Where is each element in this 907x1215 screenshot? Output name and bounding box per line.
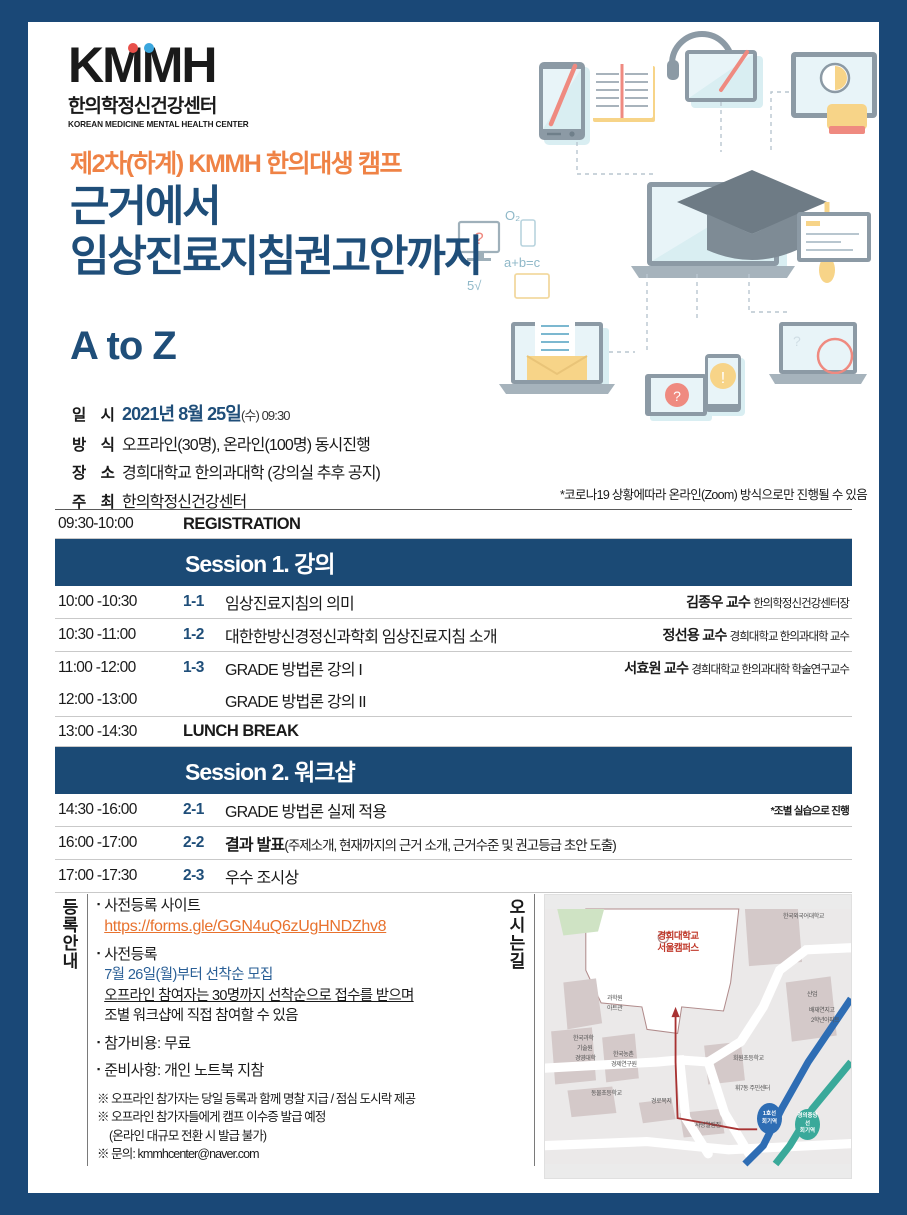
map-landmark: 과학원	[607, 993, 622, 1002]
poster-frame: .lt { fill:#d9eef2; } .gy { fill:#8c9aa5…	[28, 22, 879, 1193]
map-landmark: 아트관	[607, 1003, 622, 1012]
speaker-name: 김종우 교수	[686, 594, 750, 610]
info-value-venue: 경희대학교 한의과대학 (강의실 추후 공지)	[122, 459, 380, 483]
registration-time: 09:30-10:00	[55, 515, 183, 533]
svg-text:!: !	[721, 370, 725, 387]
kmmh-logo: KMMH 한의학정신건강센터 KOREAN MEDICINE MENTAL HE…	[68, 40, 249, 129]
row-speaker: 정선용 교수경희대학교 한의과대학 교수	[663, 625, 852, 645]
pre-registration-offline: 오프라인 참여자는 30명까지 선착순으로 접수를 받으며	[104, 988, 413, 1004]
map-landmark: 기술원	[577, 1043, 592, 1052]
subway-station-line1: 1호선 회기역	[757, 1103, 782, 1134]
table-row: 10:30 -11:00 1-2 대한한방신경정신과학회 임상진료지침 소개 정…	[55, 619, 852, 652]
logo-dots	[128, 40, 160, 58]
row-code: 2-2	[183, 834, 225, 852]
row-time: 12:00 -13:00	[55, 691, 183, 709]
map-landmark: 사랑열림집	[695, 1120, 721, 1129]
location-map[interactable]: 경희대학교 서울캠퍼스 한국외국어대학교 산업 배재연지고 2학년아파트 과학원…	[544, 894, 852, 1179]
note-item: ※ 오프라인 참가자는 당일 등록과 함께 명찰 지급 / 점심 도시락 제공	[97, 1090, 502, 1108]
note-item: ※ 문의: kmmhcenter@naver.com	[97, 1145, 502, 1163]
speaker-affiliation: 경희대학교 한의과대학 교수	[730, 631, 849, 643]
map-landmark: 경영대학	[575, 1053, 595, 1062]
map-landmark: 휘7동 주민센터	[735, 1083, 770, 1092]
session-2-header: Session 2. 워크샵	[55, 747, 852, 794]
info-value-datetime: 2021년 8월 25일	[122, 400, 241, 426]
session-1-header: Session 1. 강의	[55, 539, 852, 586]
title-line-3: A to Z	[70, 324, 176, 369]
bullet-icon: ▪	[97, 896, 100, 938]
event-subtitle: 제2차(하계) KMMH 한의대생 캠프	[70, 144, 401, 180]
pre-registration-workshop: 조별 워크샵에 직접 참여할 수 있음	[104, 1008, 298, 1024]
row-title: GRADE 방법론 실제 적용	[225, 798, 771, 822]
row-title-detail: (주제소개, 현재까지의 근거 소개, 근거수준 및 권고등급 초안 도출)	[284, 838, 615, 853]
note-item: (온라인 대규모 전환 시 발급 불가)	[97, 1127, 502, 1145]
row-time: 17:00 -17:30	[55, 867, 183, 885]
map-landmark: 경제연구원	[611, 1059, 637, 1068]
registration-site-label: 사전등록 사이트	[104, 897, 200, 914]
speaker-affiliation: 경희대학교 한의과대학 학술연구교수	[691, 664, 849, 676]
table-row: 12:00 -13:00 GRADE 방법론 강의 II	[55, 684, 852, 717]
bullet-icon: ▪	[97, 945, 100, 1027]
event-info: 일 시 2021년 8월 25일 (수) 09:30 방 식 오프라인(30명)…	[72, 400, 380, 516]
bullet-icon: ▪	[97, 1061, 100, 1081]
row-code: 1-1	[183, 593, 225, 611]
page-title: 근거에서 임상진료지침권고안까지	[70, 182, 481, 283]
note-item: ※ 오프라인 참가자들에게 캠프 이수증 발급 예정	[97, 1108, 502, 1126]
row-time: 10:30 -11:00	[55, 626, 183, 644]
station-name: 회기역	[757, 1119, 782, 1126]
map-landmark: 회원초등학교	[733, 1053, 764, 1062]
map-landmark: 한국과학	[573, 1033, 593, 1042]
row-code: 1-3	[183, 659, 225, 677]
row-time: 10:00 -10:30	[55, 593, 183, 611]
map-landmark: 산업	[807, 989, 817, 998]
station-name: 회기역	[795, 1128, 820, 1135]
row-title: GRADE 방법론 강의 I	[225, 656, 624, 680]
svg-text:a+b=c: a+b=c	[504, 255, 541, 270]
pre-registration-label: 사전등록	[104, 946, 157, 963]
row-title: 대한한방신경정신과학회 임상진료지침 소개	[225, 623, 663, 647]
campus-line-1: 경희대학교	[633, 931, 723, 943]
info-row-host: 주 최 한의학정신건강센터	[72, 488, 380, 512]
info-row-datetime: 일 시 2021년 8월 25일 (수) 09:30	[72, 400, 380, 426]
row-speaker: 김종우 교수한의학정신건강센터장	[686, 592, 852, 612]
divider	[87, 894, 88, 1166]
row-time: 14:30 -16:00	[55, 801, 183, 819]
list-item: ▪ 참가비용: 무료	[97, 1034, 502, 1054]
svg-text:?: ?	[793, 333, 801, 349]
table-row: 14:30 -16:00 2-1 GRADE 방법론 실제 적용 *조별 실습으…	[55, 794, 852, 827]
registration-site-block: 사전등록 사이트 https://forms.gle/GGN4uQ6zUgHND…	[104, 896, 386, 938]
fee-info: 참가비용: 무료	[104, 1034, 190, 1054]
table-row-registration: 09:30-10:00 REGISTRATION	[55, 509, 852, 539]
schedule-table: 09:30-10:00 REGISTRATION Session 1. 강의 1…	[55, 509, 852, 893]
station-line: 1호선	[757, 1111, 782, 1118]
list-item: ▪ 사전등록 사이트 https://forms.gle/GGN4uQ6zUgH…	[97, 896, 502, 938]
logo-dot-blue	[144, 43, 154, 53]
subway-station-gyeongui: 경의중앙선 회기역	[795, 1109, 820, 1140]
registration-title: REGISTRATION	[183, 515, 852, 534]
row-title: 임상진료지침의 의미	[225, 590, 686, 614]
table-row: 11:00 -12:00 1-3 GRADE 방법론 강의 I 서효원 교수경희…	[55, 652, 852, 684]
map-landmark: 한국외국어대학교	[783, 911, 824, 920]
info-value-host: 한의학정신건강센터	[122, 488, 246, 512]
row-speaker: 서효원 교수경희대학교 한의과대학 학술연구교수	[624, 658, 852, 678]
table-row: 10:00 -10:30 1-1 임상진료지침의 의미 김종우 교수한의학정신건…	[55, 586, 852, 619]
map-section-label: 오시는길	[502, 894, 528, 1179]
speaker-affiliation: 한의학정신건강센터장	[753, 598, 849, 610]
campus-line-2: 서울캠퍼스	[633, 943, 723, 955]
station-line: 경의중앙선	[795, 1113, 820, 1128]
lunch-time: 13:00 -14:30	[55, 723, 183, 741]
logo-english-name: KOREAN MEDICINE MENTAL HEALTH CENTER	[68, 120, 249, 129]
row-title-group: 결과 발표(주제소개, 현재까지의 근거 소개, 근거수준 및 권고등급 초안 …	[225, 831, 852, 855]
education-illustration: .lt { fill:#d9eef2; } .gy { fill:#8c9aa5…	[449, 22, 879, 422]
registration-section-label: 등록안내	[55, 894, 81, 1179]
table-row-lunch: 13:00 -14:30 LUNCH BREAK	[55, 717, 852, 747]
info-value-format: 오프라인(30명), 온라인(100명) 동시진행	[122, 431, 370, 455]
map-landmark: 배재연지고	[809, 1005, 835, 1014]
bullet-icon: ▪	[97, 1034, 100, 1054]
row-time: 16:00 -17:00	[55, 834, 183, 852]
registration-url-link[interactable]: https://forms.gle/GGN4uQ6zUgHNDZhv8	[104, 918, 386, 935]
logo-korean-name: 한의학정신건강센터	[68, 91, 249, 118]
logo-dot-red	[128, 43, 138, 53]
svg-text:O₂: O₂	[505, 208, 520, 223]
info-label-venue: 장 소	[72, 461, 122, 483]
title-line-1: 근거에서	[70, 182, 481, 232]
map-landmark: 한국농촌	[613, 1049, 633, 1058]
row-title: GRADE 방법론 강의 II	[225, 688, 852, 712]
map-section: 오시는길	[502, 894, 852, 1179]
info-row-format: 방 식 오프라인(30명), 온라인(100명) 동시진행	[72, 431, 380, 455]
speaker-name: 서효원 교수	[624, 660, 688, 676]
session-2-note: *조별 실습으로 진행	[771, 803, 852, 818]
lunch-title: LUNCH BREAK	[183, 722, 852, 741]
svg-text:?: ?	[673, 388, 681, 404]
map-landmark: 2학년아파트	[811, 1015, 840, 1024]
list-item: ▪ 준비사항: 개인 노트북 지참	[97, 1061, 502, 1081]
info-suffix-datetime: (수) 09:30	[241, 408, 290, 423]
registration-info: ▪ 사전등록 사이트 https://forms.gle/GGN4uQ6zUgH…	[97, 894, 502, 1179]
preparation-info: 준비사항: 개인 노트북 지참	[104, 1061, 263, 1081]
table-row: 16:00 -17:00 2-2 결과 발표(주제소개, 현재까지의 근거 소개…	[55, 827, 852, 860]
map-campus-label: 경희대학교 서울캠퍼스	[633, 931, 723, 955]
pre-registration-block: 사전등록 7월 26일(월)부터 선착순 모집 오프라인 참여자는 30명까지 …	[104, 945, 413, 1027]
table-row: 17:00 -17:30 2-3 우수 조시상	[55, 860, 852, 893]
bottom-panel: 등록안내 ▪ 사전등록 사이트 https://forms.gle/GGN4uQ…	[55, 894, 852, 1179]
divider	[534, 894, 535, 1166]
list-item: ▪ 사전등록 7월 26일(월)부터 선착순 모집 오프라인 참여자는 30명까…	[97, 945, 502, 1027]
info-label-datetime: 일 시	[72, 403, 122, 425]
additional-notes: ※ 오프라인 참가자는 당일 등록과 함께 명찰 지급 / 점심 도시락 제공 …	[97, 1090, 502, 1163]
covid-note: *코로나19 상황에따라 온라인(Zoom) 방식으로만 진행될 수 있음	[560, 484, 867, 503]
row-time: 11:00 -12:00	[55, 659, 183, 677]
row-code: 2-1	[183, 801, 225, 819]
map-landmark: 동물초등학교	[591, 1088, 622, 1097]
pre-registration-date: 7월 26일(월)부터 선착순 모집	[104, 967, 273, 983]
title-line-2: 임상진료지침권고안까지	[70, 232, 481, 282]
speaker-name: 정선용 교수	[663, 627, 727, 643]
info-row-venue: 장 소 경희대학교 한의과대학 (강의실 추후 공지)	[72, 459, 380, 483]
row-title: 결과 발표	[225, 837, 284, 854]
row-code: 1-2	[183, 626, 225, 644]
row-title: 우수 조시상	[225, 864, 852, 888]
info-label-format: 방 식	[72, 433, 122, 455]
map-landmark: 경로복지	[651, 1096, 671, 1105]
row-code: 2-3	[183, 867, 225, 885]
